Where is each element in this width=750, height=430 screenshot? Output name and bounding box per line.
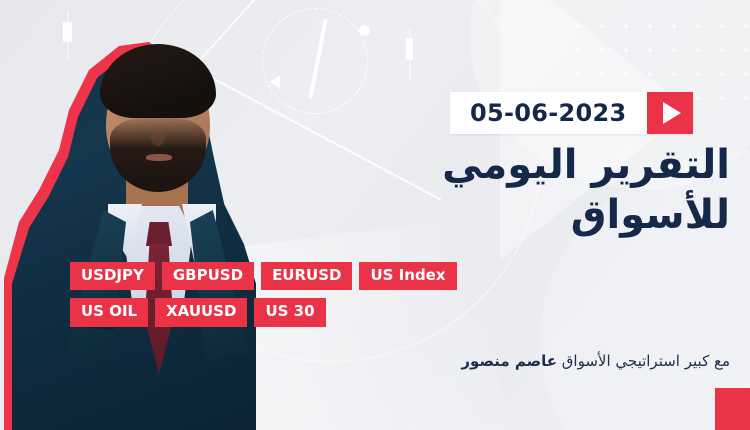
ticker-row-2: US OIL XAUUSD US 30 — [70, 298, 326, 326]
headline-line-1: التقرير اليومي — [90, 145, 730, 185]
date-chip: 05-06-2023 — [450, 92, 693, 134]
ticker-badge-us-oil[interactable]: US OIL — [70, 298, 148, 326]
byline: مع كبير استراتيجي الأسواق عاصم منصور — [90, 352, 730, 370]
play-button[interactable] — [647, 92, 693, 134]
ticker-badge-gbpusd[interactable]: GBPUSD — [162, 262, 254, 290]
byline-presenter-name: عاصم منصور — [461, 352, 557, 370]
ticker-row-1: USDJPY GBPUSD EURUSD US Index — [70, 262, 457, 290]
ticker-badge-eurusd[interactable]: EURUSD — [261, 262, 352, 290]
byline-lead: مع كبير استراتيجي الأسواق — [557, 352, 730, 370]
ticker-badge-usdjpy[interactable]: USDJPY — [70, 262, 155, 290]
report-date: 05-06-2023 — [450, 92, 647, 134]
play-triangle-icon — [663, 102, 681, 124]
ticker-badge-us-index[interactable]: US Index — [359, 262, 456, 290]
ticker-badge-us-30[interactable]: US 30 — [254, 298, 325, 326]
page-title: التقرير اليومي للأسواق — [90, 145, 730, 235]
ticker-badge-xauusd[interactable]: XAUUSD — [155, 298, 247, 326]
presenter-nose — [150, 120, 166, 146]
headline-line-2: للأسواق — [90, 195, 730, 235]
candlestick-icon-2 — [406, 38, 413, 60]
ticker-badge-group: USDJPY GBPUSD EURUSD US Index US OIL XAU… — [70, 262, 730, 327]
corner-accent — [715, 388, 750, 430]
daily-market-report-banner: 05-06-2023 التقرير اليومي للأسواق USDJPY… — [0, 0, 750, 430]
decorative-dot — [359, 25, 370, 36]
dot-grid-pattern — [560, 8, 750, 103]
